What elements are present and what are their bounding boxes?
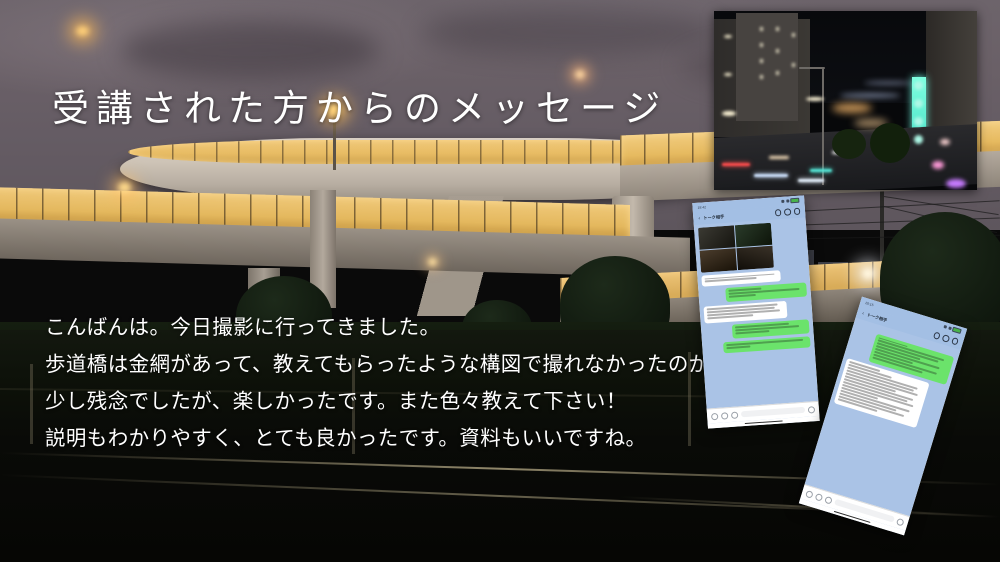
page-title: 受講された方からのメッセージ: [52, 78, 667, 132]
camera-icon[interactable]: [815, 492, 824, 501]
back-arrow-icon[interactable]: ‹: [861, 310, 865, 316]
photo-icon[interactable]: [824, 495, 833, 504]
chat-screenshot-1[interactable]: 19:42 ‹ トーク相手: [692, 195, 819, 428]
fence-post: [30, 364, 33, 444]
testimonial-line-2: 歩道橋は金網があって、教えてもらったような構図で撮れなかったのが、: [45, 347, 715, 384]
date-divider: [955, 351, 957, 354]
menu-icon[interactable]: [951, 337, 959, 345]
cloud-shape: [420, 8, 720, 56]
lamp-glow: [862, 268, 874, 279]
chat-bubble-incoming[interactable]: [703, 301, 787, 324]
call-icon[interactable]: [784, 209, 791, 216]
emoji-icon[interactable]: [896, 517, 905, 526]
search-icon[interactable]: [774, 209, 781, 216]
cloud-shape: [120, 20, 380, 80]
testimonial-line-1: こんばんは。今日撮影に行ってきました。: [45, 310, 715, 347]
wifi-icon: [786, 199, 789, 202]
status-time: 20:15: [865, 300, 874, 306]
testimonial-text: こんばんは。今日撮影に行ってきました。 歩道橋は金網があって、教えてもらったよう…: [45, 310, 715, 458]
message-photo-grid[interactable]: [698, 223, 774, 273]
emoji-icon[interactable]: [808, 406, 815, 413]
chat-title: トーク相手: [703, 213, 724, 220]
signal-icon: [943, 325, 947, 329]
slide-canvas: 受講された方からのメッセージ こんばんは。今日撮影に行ってきました。 歩道橋は金…: [0, 0, 1000, 562]
testimonial-line-4: 説明もわかりやすく、とても良かったです。資料もいいですね。: [45, 421, 715, 458]
plus-icon[interactable]: [711, 412, 718, 419]
wifi-icon: [948, 326, 952, 330]
chat-bubble-outgoing[interactable]: [725, 282, 807, 302]
camera-icon[interactable]: [721, 412, 728, 419]
back-arrow-icon[interactable]: ‹: [698, 215, 700, 221]
battery-icon: [790, 197, 799, 203]
signal-icon: [781, 200, 784, 203]
menu-icon[interactable]: [793, 208, 800, 215]
status-time: 19:42: [697, 205, 706, 210]
message-input[interactable]: [741, 407, 805, 417]
lamp-glow: [76, 26, 89, 36]
chat-bubble-outgoing[interactable]: [732, 319, 810, 338]
call-icon[interactable]: [942, 334, 950, 342]
lamp-glow: [428, 258, 437, 266]
chat-message-list[interactable]: [694, 217, 819, 408]
lamp-glow: [118, 182, 131, 193]
search-icon[interactable]: [933, 332, 941, 340]
photo-icon[interactable]: [731, 411, 738, 418]
testimonial-line-3: 少し残念でしたが、楽しかったです。また色々教えて下さい！: [45, 384, 715, 421]
inset-cityscape-photo: [714, 11, 977, 190]
plus-icon[interactable]: [805, 490, 814, 499]
chat-bubble-outgoing[interactable]: [723, 336, 811, 353]
